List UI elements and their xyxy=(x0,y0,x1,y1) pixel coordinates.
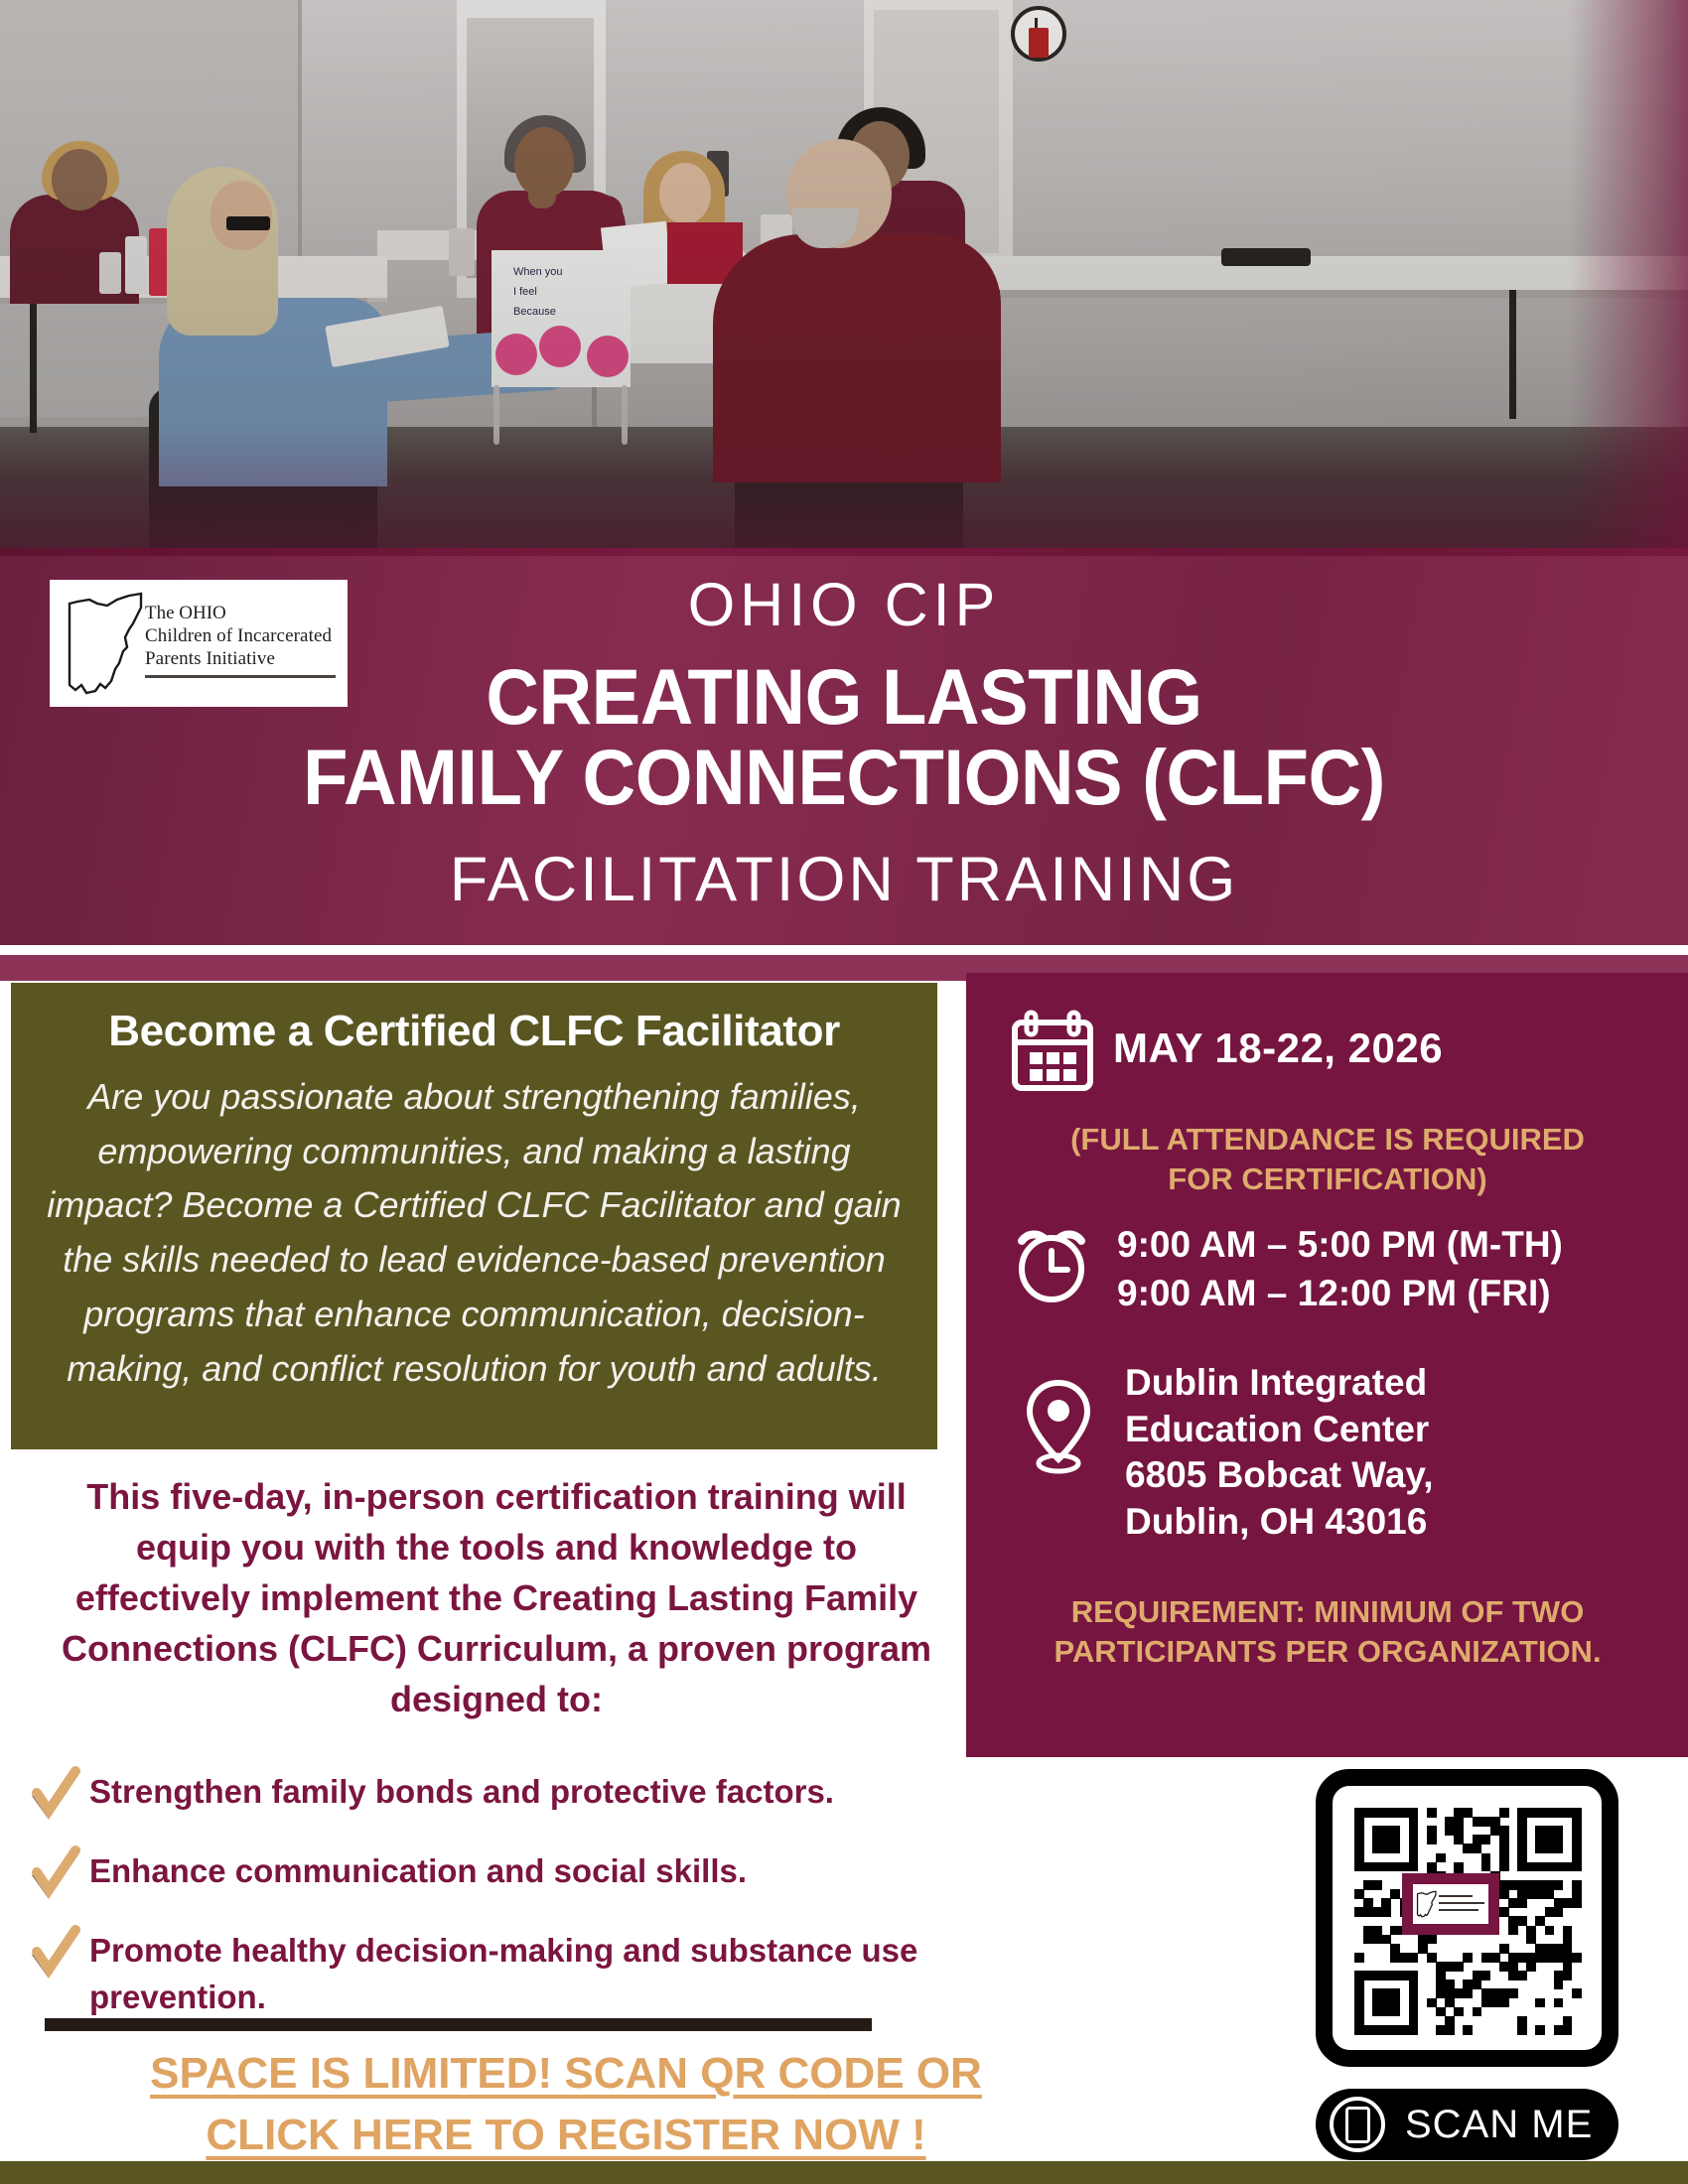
section-divider xyxy=(45,2018,872,2031)
checkmark-icon xyxy=(28,1765,89,1823)
logo-text: The OHIO Children of Incarcerated Parent… xyxy=(145,602,332,671)
logo-line-2: Children of Incarcerated xyxy=(145,624,332,647)
alarm-clock-icon xyxy=(1010,1219,1093,1302)
venue-line-3: 6805 Bobcat Way, xyxy=(1125,1452,1641,1499)
cta-line-2[interactable]: CLICK HERE TO REGISTER NOW ! xyxy=(206,2111,925,2159)
time-line-1: 9:00 AM – 5:00 PM (M-TH) xyxy=(1117,1221,1563,1270)
list-item: Strengthen family bonds and protective f… xyxy=(28,1765,1070,1823)
flyer-page: When you I feel Because OHIO CIP CREATIN… xyxy=(0,0,1688,2184)
logo-line-3: Parents Initiative xyxy=(145,647,332,670)
location-pin-icon xyxy=(1022,1378,1095,1477)
requirement-note: REQUIREMENT: MINIMUM OF TWO PARTICIPANTS… xyxy=(980,1592,1675,1673)
organization-logo: The OHIO Children of Incarcerated Parent… xyxy=(50,580,348,707)
mobile-phone-icon xyxy=(1330,2097,1385,2152)
cta-line-1[interactable]: SPACE IS LIMITED! SCAN QR CODE OR xyxy=(150,2049,982,2098)
attendance-note: (FULL ATTENDANCE IS REQUIRED FOR CERTIFI… xyxy=(990,1120,1665,1198)
header-subtitle: FACILITATION TRAINING xyxy=(0,844,1688,915)
olive-paragraph: Are you passionate about strengthening f… xyxy=(41,1070,908,1396)
logo-line-1: The OHIO xyxy=(145,602,332,624)
list-item-label: Strengthen family bonds and protective f… xyxy=(89,1765,834,1816)
attendance-note-line2: FOR CERTIFICATION) xyxy=(990,1160,1665,1199)
qr-center-logo xyxy=(1402,1873,1499,1935)
time-line-2: 9:00 AM – 12:00 PM (FRI) xyxy=(1117,1270,1563,1318)
list-item-label: Enhance communication and social skills. xyxy=(89,1844,747,1895)
olive-panel: Become a Certified CLFC Facilitator Are … xyxy=(11,983,937,1449)
scan-me-label: SCAN ME xyxy=(1405,2103,1593,2147)
training-times: 9:00 AM – 5:00 PM (M-TH) 9:00 AM – 12:00… xyxy=(1117,1221,1563,1318)
header-title-line2: FAMILY CONNECTIONS (CLFC) xyxy=(51,738,1637,818)
checkmark-icon xyxy=(28,1844,89,1902)
venue-line-2: Education Center xyxy=(1125,1407,1641,1453)
venue-line-4: Dublin, OH 43016 xyxy=(1125,1499,1641,1546)
attendance-note-line1: (FULL ATTENDANCE IS REQUIRED xyxy=(990,1120,1665,1160)
photo-tint-bottom xyxy=(0,427,1688,556)
venue-address: Dublin Integrated Education Center 6805 … xyxy=(1125,1360,1641,1545)
venue-line-1: Dublin Integrated xyxy=(1125,1360,1641,1407)
info-panel: MAY 18-22, 2026 (FULL ATTENDANCE IS REQU… xyxy=(966,973,1688,1757)
calendar-icon xyxy=(1010,1009,1095,1094)
body-paragraph: This five-day, in-person certification t… xyxy=(60,1471,933,1725)
ohio-state-outline-icon xyxy=(64,590,149,697)
bottom-bar xyxy=(0,2161,1688,2184)
requirement-line-2: PARTICIPANTS PER ORGANIZATION. xyxy=(980,1632,1675,1672)
header-photo: When you I feel Because xyxy=(0,0,1688,556)
qr-center-logo-inner xyxy=(1413,1884,1488,1924)
olive-heading: Become a Certified CLFC Facilitator xyxy=(11,1007,937,1056)
list-item-label: Promote healthy decision-making and subs… xyxy=(89,1924,983,2021)
list-item: Promote healthy decision-making and subs… xyxy=(28,1924,1070,2021)
requirement-line-1: REQUIREMENT: MINIMUM OF TWO xyxy=(980,1592,1675,1632)
logo-underline xyxy=(145,675,336,678)
ohio-state-outline-icon xyxy=(1416,1889,1438,1919)
register-cta[interactable]: SPACE IS LIMITED! SCAN QR CODE OR CLICK … xyxy=(0,2043,1132,2167)
list-item: Enhance communication and social skills. xyxy=(28,1844,1070,1902)
scan-me-button[interactable]: SCAN ME xyxy=(1316,2089,1618,2160)
benefits-checklist: Strengthen family bonds and protective f… xyxy=(28,1765,1070,2043)
checkmark-icon xyxy=(28,1924,89,1981)
training-date: MAY 18-22, 2026 xyxy=(1113,1024,1443,1072)
